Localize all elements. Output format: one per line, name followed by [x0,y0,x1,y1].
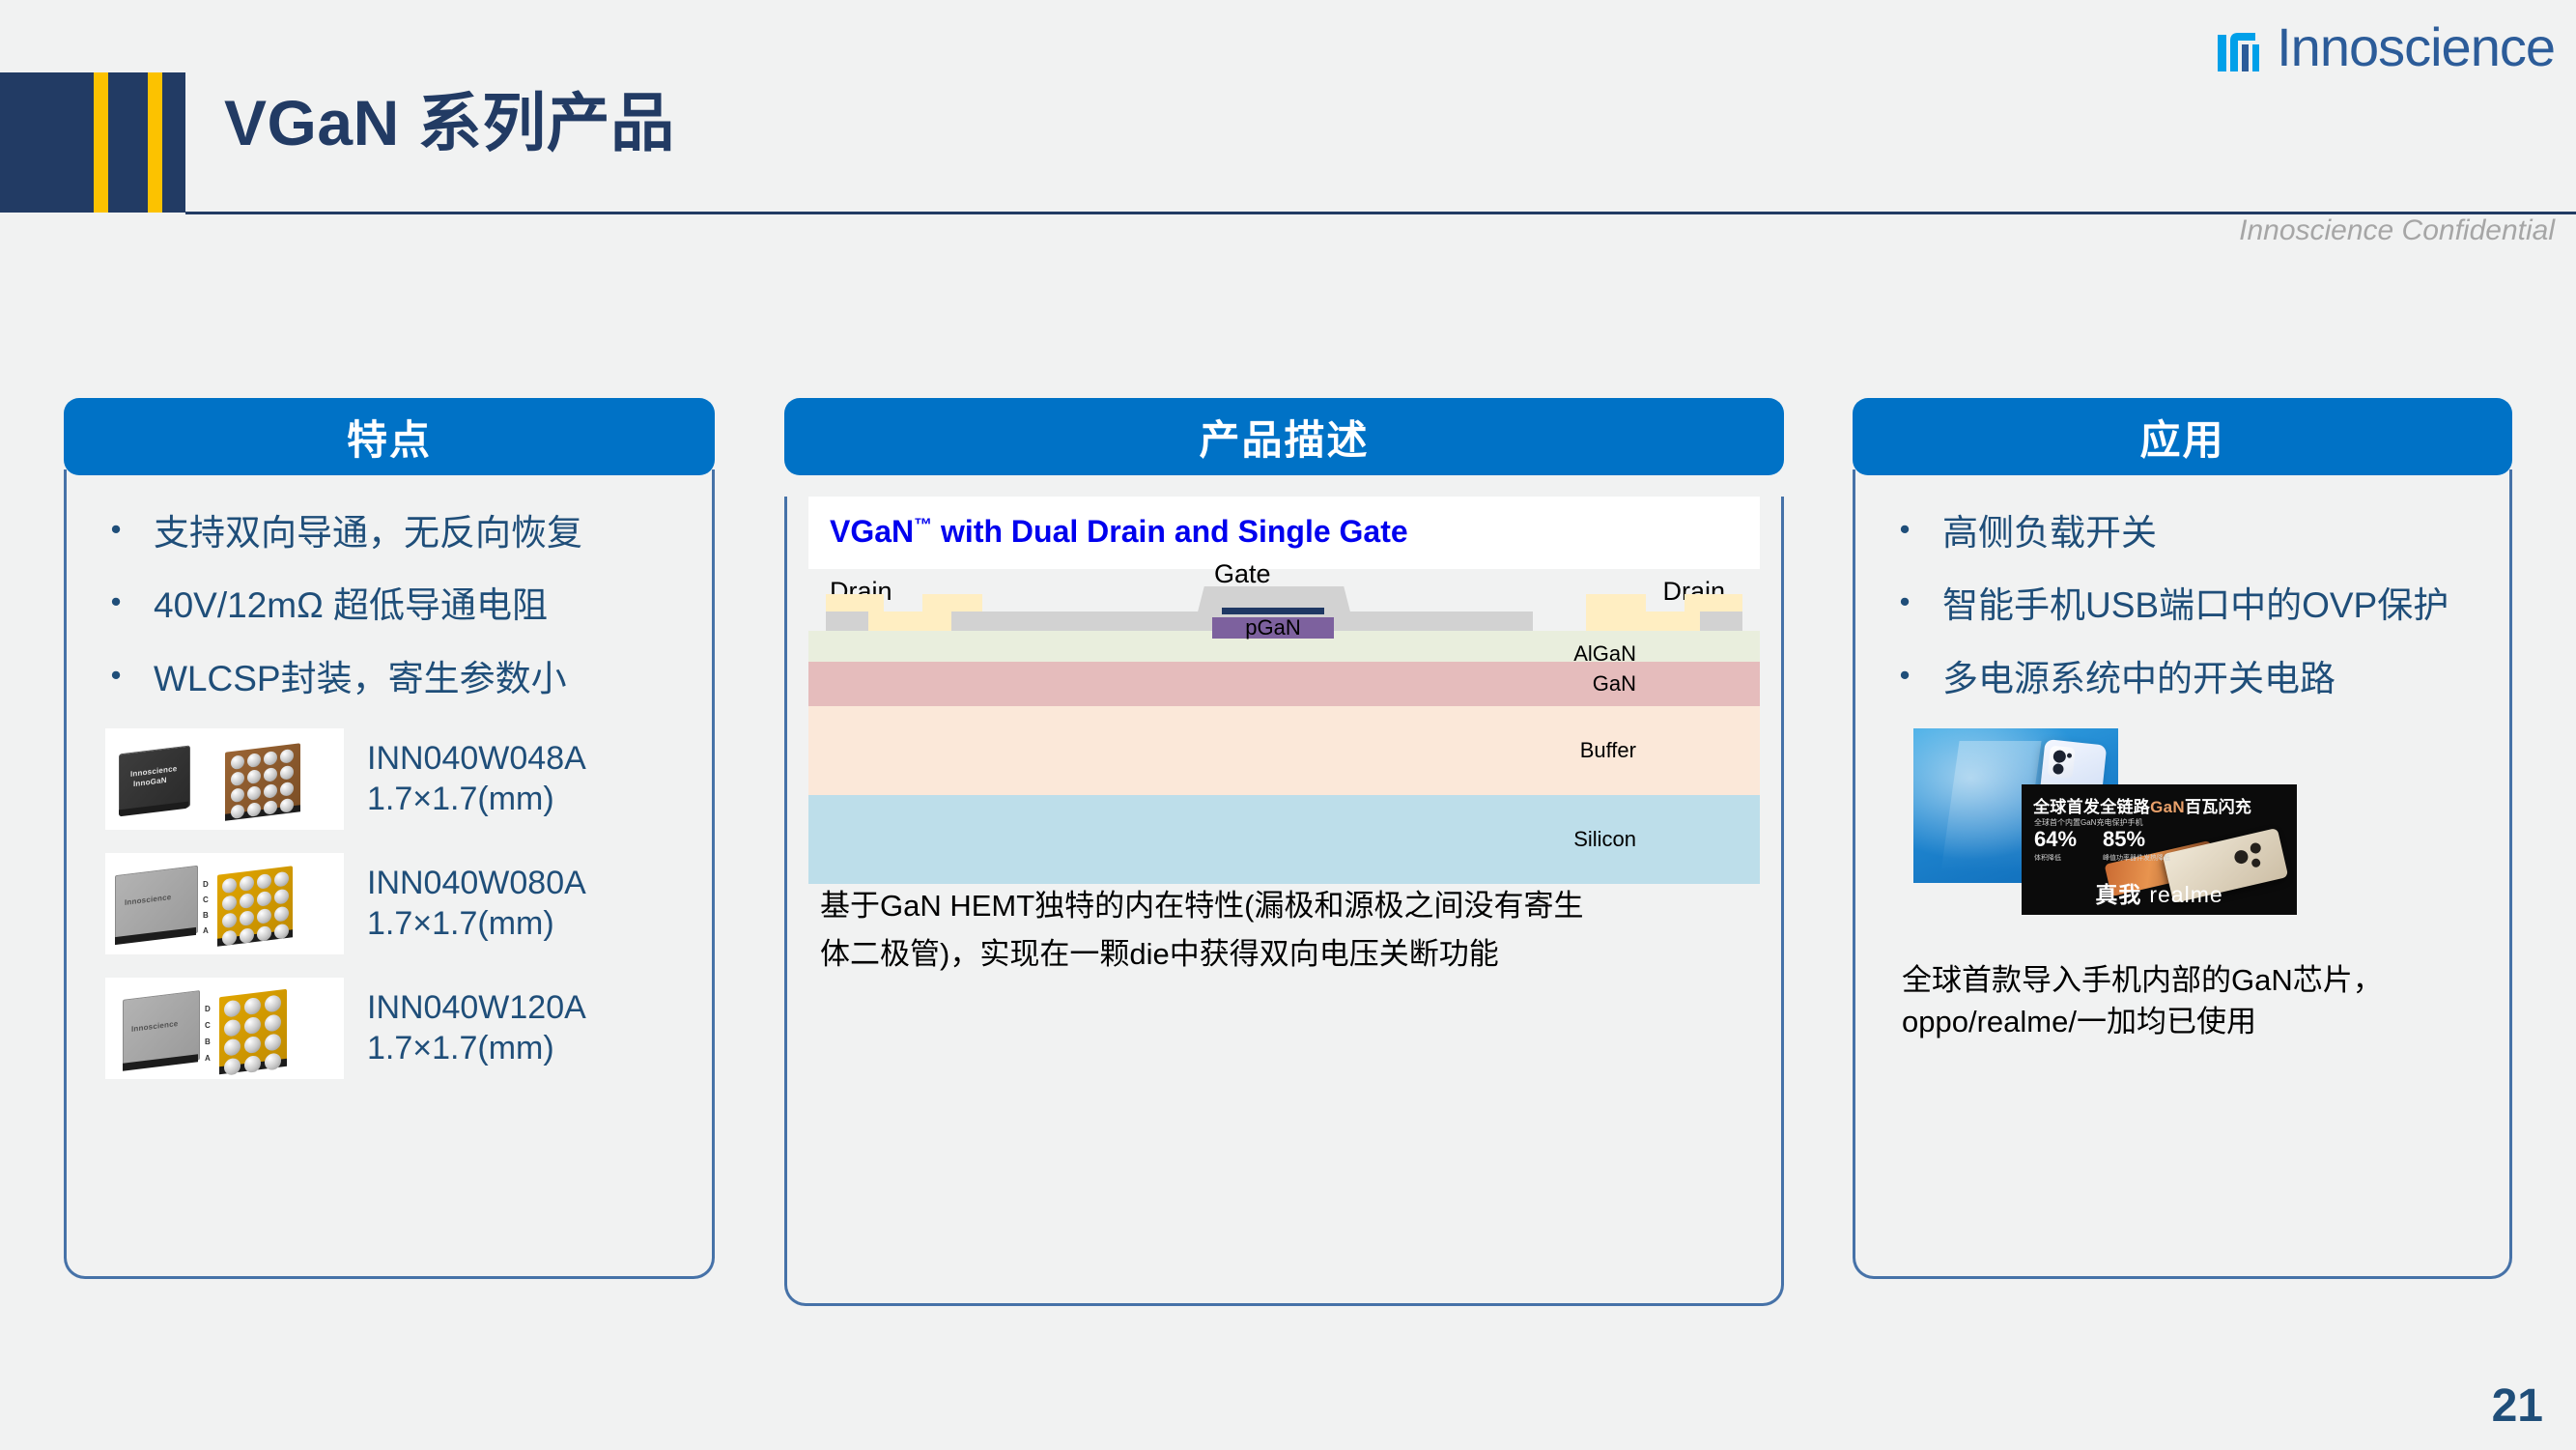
features-bullet-list: • 支持双向导通，无反向恢复 • 40V/12mΩ 超低导通电阻 • WLCSP… [67,469,712,701]
application-caption: 全球首款导入手机内部的GaN芯片， oppo/realme/一加均已使用 [1902,960,2494,1043]
application-media-group: 全球首发全链路GaN百瓦闪充 全球首个内置GaN充电保护手机 64% 体积降低 … [1855,728,2509,1047]
bullet-dot-icon: • [99,583,132,621]
card-features-title: 特点 [64,398,715,475]
list-item: • 支持双向导通，无反向恢复 [99,510,698,555]
application-bullet-text: 多电源系统中的开关电路 [1921,656,2500,701]
banner-brand-cn: 真我 [2095,882,2141,907]
list-item: • WLCSP封装，寄生参数小 [99,656,698,701]
header-divider [185,212,2576,214]
card-applications-body: • 高侧负载开关 • 智能手机USB端口中的OVP保护 • 多电源系统中的开关电… [1853,469,2512,1279]
gate-electrode [1222,608,1324,614]
pgan-label: pGaN [1212,615,1334,640]
banner-brand-en: realme [2149,882,2222,907]
package-label-group: INN040W048A 1.7×1.7(mm) [344,739,586,819]
pgan-layer: pGaN [1212,617,1334,639]
innoscience-logo: Innoscience [2217,15,2555,79]
solder-ball-grid [222,871,289,946]
header-accent-stripe-1 [94,72,108,213]
description-paragraph: 基于GaN HEMT独特的内在特性(漏极和源极之间没有寄生 体二极管)，实现在一… [820,882,1748,979]
metal-contact-left-outer [826,611,868,631]
pin-row-label: D [205,1005,211,1013]
pin-row-label: B [203,911,209,920]
package-dimensions: 1.7×1.7(mm) [367,1029,586,1068]
pin-row-label: C [203,896,209,904]
description-line-2: 体二极管)，实现在一颗die中获得双向电压关断功能 [820,930,1748,979]
diagram-title-rest: with Dual Drain and Single Gate [932,514,1408,549]
metal-contact-right-outer [1700,611,1742,631]
package-label-group: INN040W120A 1.7×1.7(mm) [344,988,586,1068]
card-description-title: 产品描述 [784,398,1784,475]
package-photo-inn040w080a: Innoscience D C B A [105,853,344,954]
pin-row-label: B [205,1038,211,1046]
terminal-label-gate: Gate [1214,559,1271,589]
card-features-body: • 支持双向导通，无反向恢复 • 40V/12mΩ 超低导通电阻 • WLCSP… [64,469,715,1279]
package-part-number: INN040W120A [367,988,586,1028]
application-bullet-text: 智能手机USB端口中的OVP保护 [1921,583,2500,628]
list-item: • 多电源系统中的开关电路 [1888,656,2500,701]
banner-stat-2: 85% 峰值功率器件发热降低 [2103,829,2170,863]
passivation-right-c [1586,594,1646,631]
application-caption-line-1: 全球首款导入手机内部的GaN芯片， [1902,960,2494,1002]
layer-silicon: Silicon [808,795,1760,884]
card-features: 特点 • 支持双向导通，无反向恢复 • 40V/12mΩ 超低导通电阻 • WL… [64,398,715,1279]
list-item: • 高侧负载开关 [1888,510,2500,555]
bullet-dot-icon: • [1888,583,1921,621]
layer-gan: GaN [808,662,1760,706]
camera-lens-main [2052,750,2066,763]
list-item: Innoscience D C B A [105,853,712,954]
layer-buffer: Buffer [808,706,1760,795]
page-title: VGaN 系列产品 [224,87,675,160]
list-item: Innoscience D C B A [105,978,712,1079]
package-photo-inn040w048a: Innoscience InnoGaN [105,728,344,830]
list-item: • 40V/12mΩ 超低导通电阻 [99,583,698,628]
package-dimensions: 1.7×1.7(mm) [367,780,586,819]
layer-label-silicon: Silicon [1573,827,1636,852]
card-applications: 应用 • 高侧负载开关 • 智能手机USB端口中的OVP保护 • 多电源系统中的… [1853,398,2512,1279]
bullet-dot-icon: • [1888,510,1921,549]
card-description-body: VGaN™ with Dual Drain and Single Gate Dr… [784,497,1784,1306]
banner-headline-pre: 全球首发全链路 [2033,798,2150,816]
header-accent-stripe-2 [148,72,162,213]
promo-camera-lens-2 [2250,841,2262,854]
promo-camera-lens-3 [2250,858,2261,868]
solder-ball-grid [231,749,294,819]
package-part-number: INN040W080A [367,864,586,903]
banner-stat-2-caption: 峰值功率器件发热降低 [2103,853,2170,863]
applications-bullet-list: • 高侧负载开关 • 智能手机USB端口中的OVP保护 • 多电源系统中的开关电… [1855,469,2509,701]
pin-row-label: A [205,1054,211,1063]
pin-row-label: C [205,1021,211,1030]
feature-bullet-text: 40V/12mΩ 超低导通电阻 [132,583,698,628]
cross-section-canvas: Drain Gate Drain AlGaN GaN Buffer Silico… [808,573,1760,853]
application-bullet-text: 高侧负载开关 [1921,510,2500,555]
camera-lens-secondary [2052,763,2064,775]
package-part-number: INN040W048A [367,739,586,779]
solder-ball-grid [224,994,282,1075]
promo-camera-lens-1 [2233,849,2250,866]
package-dimensions: 1.7×1.7(mm) [367,904,586,944]
diagram-title-main: VGaN [830,514,914,549]
layer-label-buffer: Buffer [1580,738,1636,763]
feature-bullet-text: 支持双向导通，无反向恢复 [132,510,698,555]
banner-stat-1: 64% 体积降低 [2034,829,2077,863]
card-description: 产品描述 VGaN™ with Dual Drain and Single Ga… [784,398,1784,1306]
page-number: 21 [2492,1379,2543,1433]
camera-module [2048,746,2076,780]
card-applications-title: 应用 [1853,398,2512,475]
layer-label-gan: GaN [1593,671,1636,697]
bullet-dot-icon: • [1888,656,1921,695]
banner-stat-1-value: 64% [2034,829,2077,850]
banner-headline-post: 百瓦闪充 [2185,798,2251,816]
banner-brand: 真我realme [2022,876,2297,909]
bullet-dot-icon: • [99,510,132,549]
product-package-list: Innoscience InnoGaN INN040W048A [67,728,712,1079]
camera-lens-tertiary [2067,753,2072,758]
package-photo-inn040w120a: Innoscience D C B A [105,978,344,1079]
list-item: Innoscience InnoGaN INN040W048A [105,728,712,830]
banner-headline-gan: GaN [2150,798,2185,816]
pin-row-label: D [203,880,209,889]
confidential-notice: Innoscience Confidential [2239,214,2555,247]
description-line-1: 基于GaN HEMT独特的内在特性(漏极和源极之间没有寄生 [820,882,1748,930]
innoscience-logo-text: Innoscience [2277,20,2555,74]
device-cross-section-diagram: VGaN™ with Dual Drain and Single Gate Dr… [808,497,1760,853]
banner-stat-2-value: 85% [2103,829,2170,850]
diagram-title: VGaN™ with Dual Drain and Single Gate [830,514,1739,550]
innoscience-logo-icon [2217,21,2269,73]
slide: VGaN 系列产品 Innoscience Innoscience Confid… [0,0,2576,1450]
list-item: • 智能手机USB端口中的OVP保护 [1888,583,2500,628]
package-label-group: INN040W080A 1.7×1.7(mm) [344,864,586,944]
bullet-dot-icon: • [99,656,132,695]
pin-row-label: A [203,926,209,935]
trademark-symbol: ™ [914,515,932,535]
realme-promo-banner: 全球首发全链路GaN百瓦闪充 全球首个内置GaN充电保护手机 64% 体积降低 … [2022,784,2297,915]
banner-stat-1-caption: 体积降低 [2034,853,2077,863]
application-caption-line-2: oppo/realme/一加均已使用 [1902,1002,2494,1043]
feature-bullet-text: WLCSP封装，寄生参数小 [132,656,698,701]
banner-headline: 全球首发全链路GaN百瓦闪充 [2033,793,2251,817]
diagram-title-box: VGaN™ with Dual Drain and Single Gate [808,497,1760,569]
